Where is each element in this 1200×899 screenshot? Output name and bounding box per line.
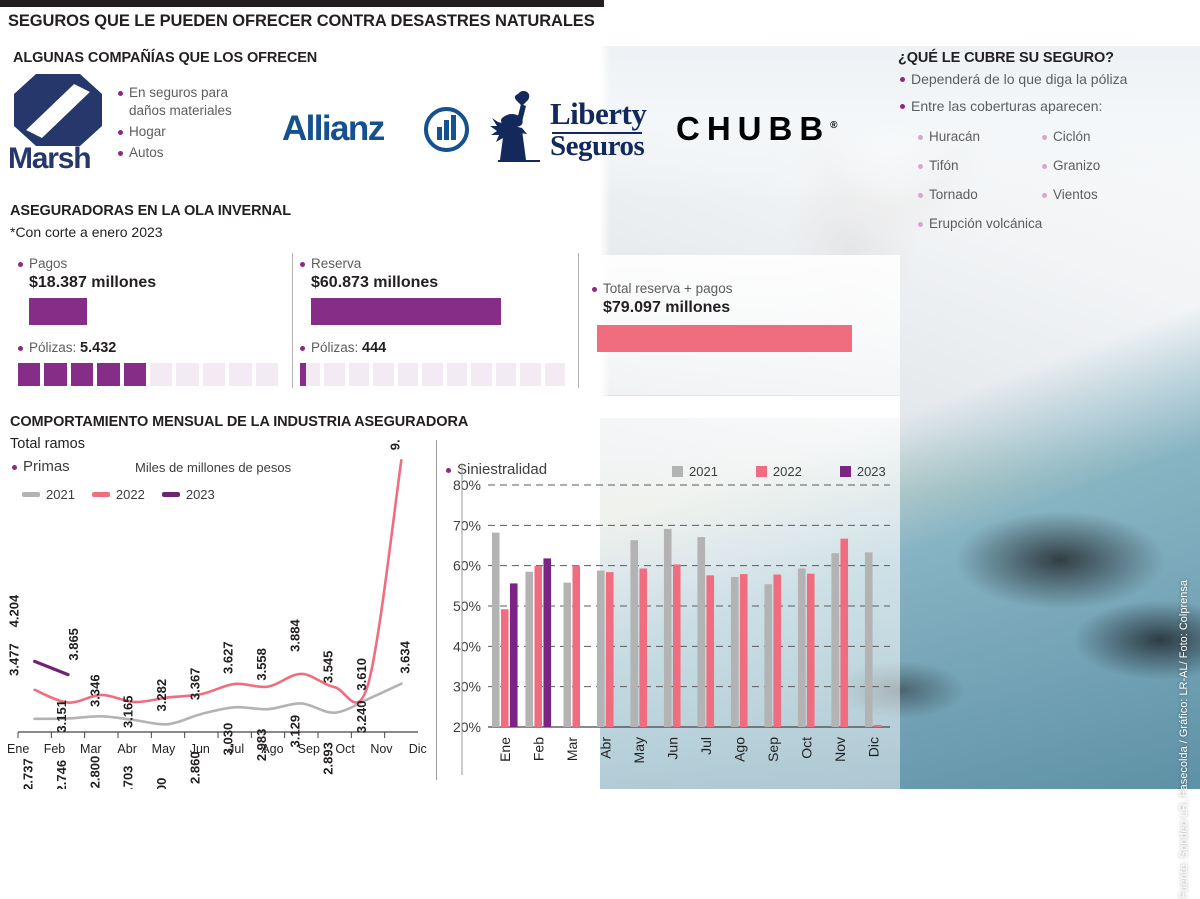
coverage-bullet-list: Dependerá de lo que diga la póliza Entre… [900,70,1190,124]
line-month-label: Mar [73,742,109,756]
line-series-2022 [35,460,402,702]
pagos-bar [29,298,87,325]
ola-invernal-note: *Con corte a enero 2023 [10,224,163,240]
bar-2022-Jul [706,575,714,727]
marsh-bullet-2: Autos [118,144,268,162]
reserva-polizas-label: Pólizas: 444 [300,339,565,357]
line-month-label: May [145,742,181,756]
line-point-label: 3.240 [354,701,369,734]
line-chart: 2.7372.7462.8002.7032.6002.8603.0302.983… [0,440,436,789]
companies-section-title: ALGUNAS COMPAÑÍAS QUE LOS OFRECEN [13,50,317,66]
polizas-square [324,363,344,386]
coverage-item-huracan: Huracán [918,128,1042,146]
bar-2021-Sep [764,584,772,727]
polizas-square [373,363,393,386]
line-point-label: 2.737 [21,758,36,789]
line-point-label: 3.346 [87,674,102,707]
line-chart-x-axis-labels: EneFebMarAbrMayJunJulAgoSepOctNovDic [0,742,436,756]
bar-month-label: Abr [597,737,613,759]
line-point-label: 2.703 [121,766,136,789]
bar-month-label: Jul [698,737,714,755]
line-point-label: 3.151 [54,700,69,733]
line-point-label: 3.165 [121,695,136,728]
polizas-square [150,363,172,386]
bar-2022-Oct [807,574,815,727]
line-month-label: Nov [363,742,399,756]
line-month-label: Abr [109,742,145,756]
line-point-label: 2.860 [187,751,202,784]
line-point-label: 3.865 [66,628,81,661]
coverage-bullet-0: Dependerá de lo que diga la póliza [900,70,1190,88]
bar-month-label: Ago [731,737,747,762]
polizas-square [71,363,93,386]
line-point-label: 2.746 [54,760,69,789]
coverage-items-grid: Huracán Ciclón Tifón Granizo Tornado Vie… [918,128,1188,244]
reserva-squares [300,363,565,386]
total-amount: $79.097 millones [603,299,892,317]
reserva-block: Reserva $60.873 millones Pólizas: 444 [300,255,565,386]
bar-2021-Jul [697,537,705,727]
coverage-item-ciclon: Ciclón [1042,128,1166,146]
bar-y-tick-label: 30% [453,679,481,695]
marsh-bullet-1: Hogar [118,123,268,141]
line-chart-canvas: 2.7372.7462.8002.7032.6002.8603.0302.983… [0,440,436,789]
coverage-item-tifon: Tifón [918,157,1042,175]
coverage-bullet-1: Entre las coberturas aparecen: [900,97,1190,115]
bar-2021-May [630,540,638,727]
line-month-label: Ago [254,742,290,756]
polizas-square [256,363,278,386]
bar-2021-Feb [525,572,533,727]
bar-month-label: Feb [530,737,546,761]
bar-y-tick-label: 80% [453,477,481,493]
bar-chart-canvas: 20%30%40%50%60%70%80%EneFebMarAbrMayJunJ… [440,455,900,789]
bar-2021-Oct [798,568,806,727]
polizas-square [229,363,251,386]
line-point-label: 3.627 [221,641,236,674]
bar-month-label: May [631,737,647,763]
reserva-label: Reserva [300,255,565,273]
line-month-label: Jun [182,742,218,756]
bar-month-label: Sep [765,737,781,762]
bar-2022-Feb [534,566,542,727]
chubb-wordmark: CHUBB [676,110,830,147]
line-month-label: Sep [291,742,327,756]
ola-invernal-title: ASEGURADORAS EN LA OLA INVERNAL [10,203,291,219]
bar-2021-Dic [865,552,873,727]
bar-2021-Ene [492,533,500,727]
pagos-label: Pagos [18,255,278,273]
polizas-square [349,363,369,386]
coverage-row: Huracán Ciclón [918,128,1188,146]
polizas-square [176,363,198,386]
bar-2023-Ene [510,583,518,727]
pagos-squares [18,363,278,386]
polizas-square [18,363,40,386]
polizas-square [44,363,66,386]
bar-month-label: Mar [564,737,580,761]
bar-2022-Dic [874,725,882,727]
bar-2022-Abr [606,572,614,727]
reserva-amount: $60.873 millones [311,274,565,292]
line-month-label: Ene [0,742,36,756]
bar-month-label: Jun [664,737,680,760]
bar-month-label: Ene [497,737,513,762]
bar-month-label: Nov [832,737,848,762]
line-month-label: Dic [400,742,436,756]
coverage-row: Erupción volcánica [918,215,1188,233]
bar-2021-Ago [731,577,739,727]
allianz-logo: Allianz [282,105,472,157]
allianz-bars-icon [424,107,469,152]
polizas-square [545,363,565,386]
pagos-block: Pagos $18.387 millones Pólizas: 5.432 [18,255,278,386]
line-month-label: Oct [327,742,363,756]
marsh-wordmark: Marsh [8,142,90,176]
bar-month-label: Dic [865,737,881,757]
polizas-square [203,363,225,386]
line-month-label: Feb [36,742,72,756]
polizas-square [496,363,516,386]
reserva-polizas-value: 444 [362,340,386,356]
pagos-polizas-text: Pólizas: [29,340,76,355]
line-point-label: 3.634 [397,640,412,673]
coverage-row: Tornado Vientos [918,186,1188,204]
line-point-label: 3.610 [354,658,369,691]
polizas-square [300,363,320,386]
total-label: Total reserva + pagos [592,280,892,298]
bar-y-tick-label: 70% [453,517,481,533]
coverage-item-tornado: Tornado [918,186,1042,204]
ola-divider-2 [578,253,579,388]
line-point-label: 3.477 [7,643,22,676]
source-credit: Fuente: Sondeo LR, Fasecolda / Gráfico: … [1178,580,1190,899]
reserva-bar [311,298,501,325]
bar-2022-May [639,568,647,727]
bar-month-label: Oct [798,737,814,759]
bar-2022-Ago [740,574,748,727]
allianz-wordmark: Allianz [282,109,384,149]
liberty-wordmark-line2: Seguros [550,130,644,163]
line-point-label: 9.338 [387,440,402,450]
pagos-polizas-label: Pólizas: 5.432 [18,339,278,357]
line-point-label: 3.558 [254,648,269,681]
total-block: Total reserva + pagos $79.097 millones [592,280,892,352]
pagos-polizas-value: 5.432 [80,340,116,356]
chubb-logo: CHUBB® [676,110,838,148]
marsh-bullet-0: En seguros para daños materiales [118,84,268,120]
bar-2022-Nov [840,539,848,727]
marsh-logo: Marsh [8,72,114,176]
polizas-square [422,363,442,386]
photo-top-mask [600,0,1200,46]
line-point-label: 3.545 [321,651,336,684]
bar-y-tick-label: 40% [453,638,481,654]
bar-2023-Feb [543,558,551,727]
top-rule [0,0,604,7]
polizas-square [471,363,491,386]
marsh-mark-icon [12,72,104,148]
bar-2021-Jun [664,529,672,727]
pagos-amount: $18.387 millones [29,274,278,292]
bar-2022-Ene [501,609,509,727]
bar-2022-Jun [673,564,681,727]
line-month-label: Jul [218,742,254,756]
coverage-item-vientos: Vientos [1042,186,1166,204]
coverage-item-erupcion: Erupción volcánica [918,215,1138,233]
bar-2021-Abr [597,571,605,727]
charts-divider [436,440,437,780]
coverage-item-granizo: Granizo [1042,157,1166,175]
polizas-square [124,363,146,386]
bar-y-tick-label: 20% [453,719,481,735]
line-point-label: 2.800 [87,756,102,789]
bar-2021-Mar [563,583,571,727]
ola-divider-1 [292,253,293,388]
line-series-2023 [35,661,68,674]
total-bar [597,325,852,352]
bar-chart: 20%30%40%50%60%70%80%EneFebMarAbrMayJunJ… [440,455,900,789]
page-title: SEGUROS QUE LE PUEDEN OFRECER CONTRA DES… [8,12,595,31]
bar-2022-Mar [572,566,580,727]
line-point-label: 3.884 [287,619,302,652]
monthly-section-title: COMPORTAMIENTO MENSUAL DE LA INDUSTRIA A… [10,414,468,430]
marsh-bullet-list: En seguros para daños materiales Hogar A… [118,84,268,165]
reserva-polizas-text: Pólizas: [311,340,358,355]
bar-y-tick-label: 60% [453,558,481,574]
polizas-square [97,363,119,386]
liberty-wordmark-line1: Liberty [550,96,646,132]
polizas-square [447,363,467,386]
liberty-logo: Liberty Seguros [488,88,658,164]
line-point-label: 3.367 [187,668,202,701]
chubb-registered-mark: ® [830,120,837,131]
coverage-row: Tifón Granizo [918,157,1188,175]
bar-y-tick-label: 50% [453,598,481,614]
line-point-label: 2.600 [154,778,169,789]
line-point-label: 3.282 [154,679,169,712]
bar-2021-Nov [831,553,839,727]
statue-of-liberty-icon [488,88,550,162]
polizas-square [398,363,418,386]
polizas-square [520,363,540,386]
bar-2022-Sep [773,575,781,727]
coverage-section-title: ¿QUÉ LE CUBRE SU SEGURO? [898,50,1114,66]
line-point-label: 4.204 [7,594,22,627]
